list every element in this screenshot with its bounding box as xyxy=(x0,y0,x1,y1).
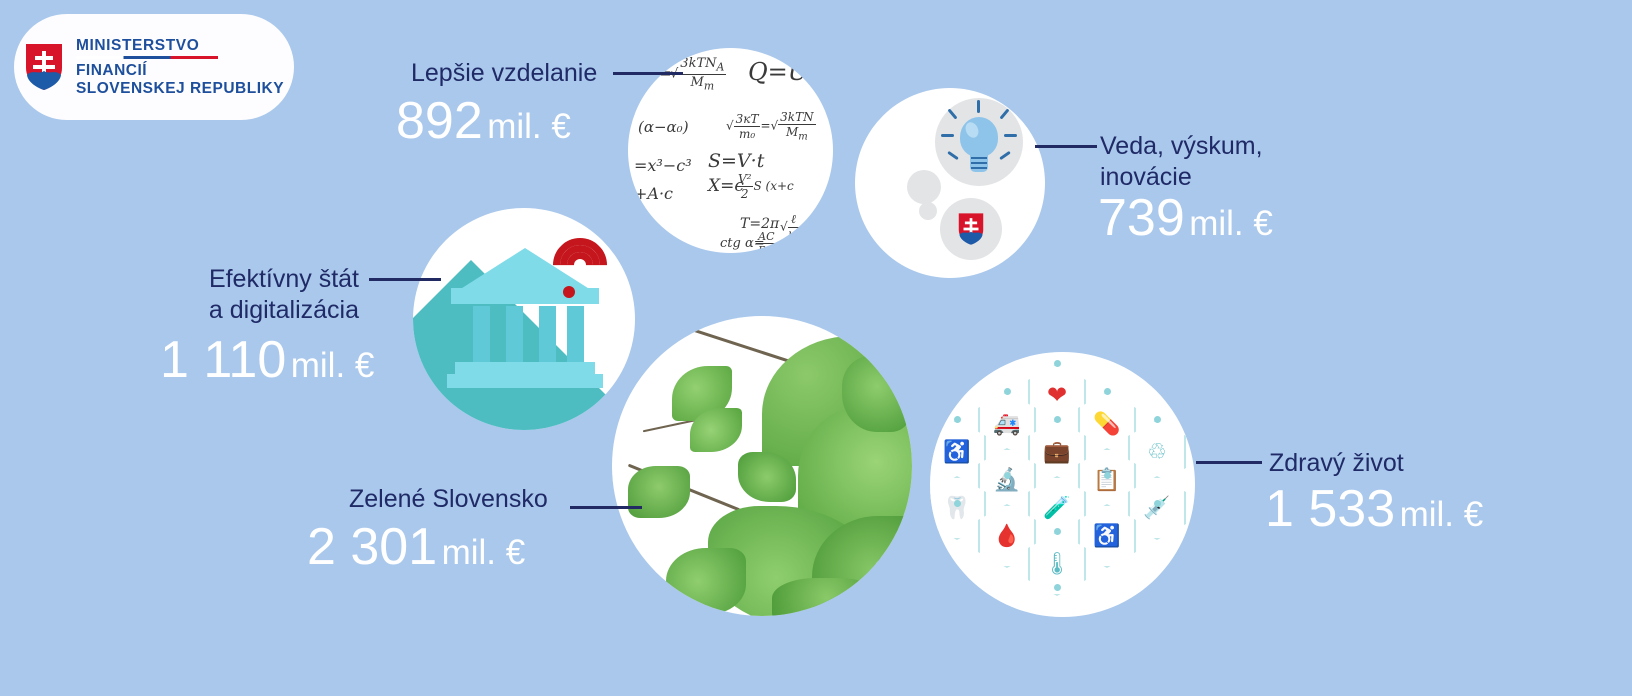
government-building-wifi-icon xyxy=(451,248,599,388)
medicine-bottle-icon: 💉 xyxy=(1128,476,1186,540)
amount-education-value: 892 xyxy=(396,92,483,150)
lightbulb-icon xyxy=(935,98,1023,186)
amount-health: 1 533 mil. € xyxy=(1265,479,1483,539)
medical-bag-icon: 💼 xyxy=(1028,420,1086,484)
slovak-crest-badge xyxy=(940,198,1002,260)
ambulance-icon: 🚑 xyxy=(978,392,1036,456)
slovak-coat-of-arms-icon xyxy=(24,42,64,92)
amount-health-unit: mil. € xyxy=(1400,495,1484,534)
health-image-circle: ❤ 🚑 💊 ♲ ♿ 💼 🔬 📋 🦷 🧪 💉 🩸 ♿ 🌡 xyxy=(930,352,1195,617)
connector-health xyxy=(1196,461,1262,464)
amount-green-unit: mil. € xyxy=(442,533,526,572)
blood-bag-icon: 🩸 xyxy=(978,504,1036,568)
label-health: Zdravý život xyxy=(1269,448,1404,479)
wifi-icon xyxy=(555,242,625,300)
amount-health-value: 1 533 xyxy=(1265,480,1395,538)
education-image-circle: m₀ = √3kTNAMm Q=U+A (α−α₀) √3кTm₀=√3kTNM… xyxy=(628,48,833,253)
pills-icon: 💊 xyxy=(1078,392,1136,456)
connector-education xyxy=(613,72,683,75)
connector-science xyxy=(1035,145,1097,148)
amount-education: 892 mil. € xyxy=(396,91,571,151)
thought-dot-small xyxy=(919,202,937,220)
connector-digital xyxy=(369,278,441,281)
amount-science-unit: mil. € xyxy=(1189,204,1273,243)
handwritten-formulas-icon: m₀ = √3kTNAMm Q=U+A (α−α₀) √3кTm₀=√3kTNM… xyxy=(628,48,833,253)
amount-digital-unit: mil. € xyxy=(291,346,375,385)
medical-hexagons-icon: ❤ 🚑 💊 ♲ ♿ 💼 🔬 📋 🦷 🧪 💉 🩸 ♿ 🌡 xyxy=(930,352,1195,617)
digital-state-image-circle xyxy=(413,208,635,430)
stethoscope-icon: ♿ xyxy=(930,420,986,484)
microscope-icon: 🔬 xyxy=(978,448,1036,512)
amount-education-unit: mil. € xyxy=(487,107,571,146)
amount-science: 739 mil. € xyxy=(1098,188,1273,248)
label-science: Veda, výskum, inovácie xyxy=(1100,131,1263,192)
label-green: Zelené Slovensko xyxy=(349,484,548,515)
logo-line-1: MINISTERSTVO xyxy=(76,37,284,54)
label-digital: Efektívny štát a digitalizácia xyxy=(199,264,359,325)
medical-record-icon: 📋 xyxy=(1078,448,1136,512)
amount-digital-value: 1 110 xyxy=(160,331,286,389)
tooth-icon: 🦷 xyxy=(930,476,986,540)
label-education: Lepšie vzdelanie xyxy=(411,58,597,89)
green-slovakia-image-circle xyxy=(612,316,912,616)
slovak-coat-of-arms-icon xyxy=(957,212,985,246)
science-image-circle xyxy=(855,88,1045,278)
stethoscope-2-icon: ♿ xyxy=(1078,504,1136,568)
iv-bag-icon: ♲ xyxy=(1128,420,1186,484)
green-foliage-icon xyxy=(612,316,912,616)
tricolor-rule xyxy=(76,56,218,59)
amount-green: 2 301 mil. € xyxy=(307,517,525,577)
logo-line-3: SLOVENSKEJ REPUBLIKY xyxy=(76,80,284,97)
infographic-canvas: MINISTERSTVO FINANCIÍ SLOVENSKEJ REPUBLI… xyxy=(0,0,1632,696)
thought-dot-large xyxy=(907,170,941,204)
amount-digital: 1 110 mil. € xyxy=(160,330,374,390)
connector-green xyxy=(570,506,642,509)
amount-science-value: 739 xyxy=(1098,189,1185,247)
amount-green-value: 2 301 xyxy=(307,518,437,576)
ministry-logo: MINISTERSTVO FINANCIÍ SLOVENSKEJ REPUBLI… xyxy=(14,14,294,120)
logo-line-2: FINANCIÍ xyxy=(76,62,284,79)
